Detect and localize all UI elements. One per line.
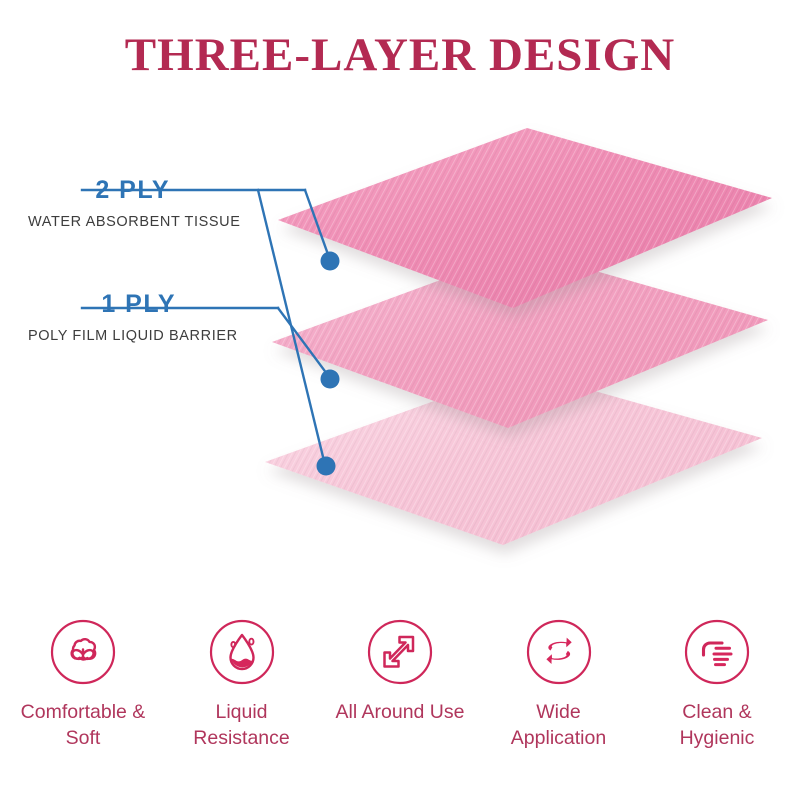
feature-all-around-use: All Around Use — [325, 618, 475, 726]
wiping-hand-icon — [683, 618, 751, 686]
top-layer — [278, 128, 772, 308]
feature-label: Comfortable & Soft — [21, 700, 146, 751]
dot-bottom-layer — [317, 457, 336, 476]
feature-label: Clean & Hygienic — [680, 700, 755, 751]
dot-middle-layer — [321, 370, 340, 389]
expand-arrows-icon — [366, 618, 434, 686]
feature-clean-hygienic: Clean & Hygienic — [642, 618, 792, 751]
feature-wide-application: Wide Application — [484, 618, 634, 751]
callout-2ply: 2 PLY WATER ABSORBENT TISSUE — [28, 178, 228, 230]
page-title: THREE-LAYER DESIGN — [0, 28, 800, 82]
cycle-arrows-icon — [525, 618, 593, 686]
callout-1ply: 1 PLY POLY FILM LIQUID BARRIER — [28, 292, 234, 344]
feature-liquid-resistance: Liquid Resistance — [167, 618, 317, 751]
callout-2ply-ply: 2 PLY — [28, 178, 228, 203]
feature-label: Liquid Resistance — [193, 700, 289, 751]
callout-2ply-description: WATER ABSORBENT TISSUE — [28, 215, 228, 230]
feature-label: All Around Use — [336, 700, 465, 726]
dot-top-layer — [321, 252, 340, 271]
callout-1ply-description: POLY FILM LIQUID BARRIER — [28, 329, 234, 344]
feature-comfortable-soft: Comfortable & Soft — [8, 618, 158, 751]
feature-strip: Comfortable & Soft Liquid Resistance All… — [0, 618, 800, 793]
callout-1ply-ply: 1 PLY — [28, 292, 234, 317]
infographic-canvas: THREE-LAYER DESIGN — [0, 0, 800, 800]
cotton-boll-icon — [49, 618, 117, 686]
water-droplet-icon — [208, 618, 276, 686]
feature-label: Wide Application — [511, 700, 606, 751]
